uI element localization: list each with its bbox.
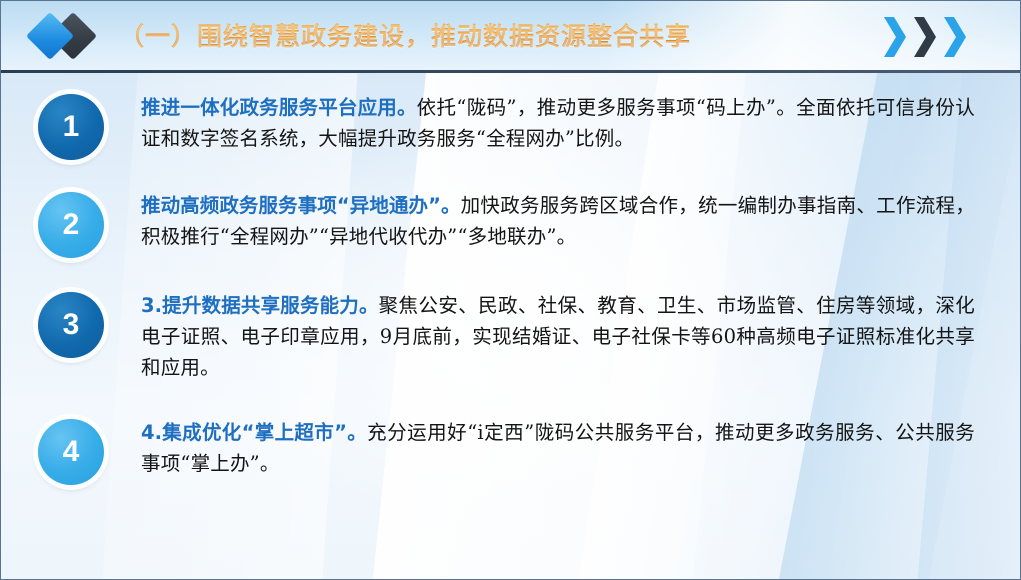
item-text-4: 4.集成优化“掌上超市”。充分运用好“i定西”陇码公共服务平台，推动更多政务服务… <box>141 417 1020 479</box>
content-list: 1 推进一体化政务服务平台应用。依托“陇码”，推动更多服务事项“码上办”。全面依… <box>1 86 1020 485</box>
bullet-number-4: 4 <box>38 419 104 485</box>
bullet-container: 2 <box>1 190 141 258</box>
chevron-right-dark-icon <box>912 15 938 59</box>
item-lead-3: 3.提升数据共享服务能力。 <box>141 294 379 317</box>
chevron-group <box>882 15 968 59</box>
item-text-1: 推进一体化政务服务平台应用。依托“陇码”，推动更多服务事项“码上办”。全面依托可… <box>141 92 1020 154</box>
item-text-3: 3.提升数据共享服务能力。聚焦公安、民政、社保、教育、卫生、市场监管、住房等领域… <box>141 290 1020 383</box>
item-lead-2: 推动高频政务服务事项“异地通办”。 <box>141 194 461 217</box>
bullet-number-2: 2 <box>38 192 104 258</box>
list-item: 1 推进一体化政务服务平台应用。依托“陇码”，推动更多服务事项“码上办”。全面依… <box>1 92 1020 160</box>
bullet-container: 3 <box>1 290 141 358</box>
bullet-container: 4 <box>1 417 141 485</box>
item-lead-4: 4.集成优化“掌上超市”。 <box>141 421 367 444</box>
header-divider <box>1 70 1020 73</box>
double-diamond-logo-icon <box>23 11 115 63</box>
item-text-2: 推动高频政务服务事项“异地通办”。加快政务服务跨区域合作，统一编制办事指南、工作… <box>141 190 1020 252</box>
presentation-slide: （一）围绕智慧政务建设，推动数据资源整合共享 1 推进一体化政务服务平台应用。依… <box>0 0 1021 580</box>
bullet-number-1: 1 <box>38 94 104 160</box>
chevron-right-blue-icon <box>882 15 908 59</box>
slide-header: （一）围绕智慧政务建设，推动数据资源整合共享 <box>1 1 1020 72</box>
bullet-number-3: 3 <box>38 292 104 358</box>
list-item: 2 推动高频政务服务事项“异地通办”。加快政务服务跨区域合作，统一编制办事指南、… <box>1 190 1020 258</box>
bullet-container: 1 <box>1 92 141 160</box>
list-item: 4 4.集成优化“掌上超市”。充分运用好“i定西”陇码公共服务平台，推动更多政务… <box>1 417 1020 485</box>
item-lead-1: 推进一体化政务服务平台应用。 <box>141 96 417 119</box>
page-title: （一）围绕智慧政务建设，推动数据资源整合共享 <box>119 17 691 53</box>
list-item: 3 3.提升数据共享服务能力。聚焦公安、民政、社保、教育、卫生、市场监管、住房等… <box>1 290 1020 383</box>
chevron-right-blue-icon <box>942 15 968 59</box>
